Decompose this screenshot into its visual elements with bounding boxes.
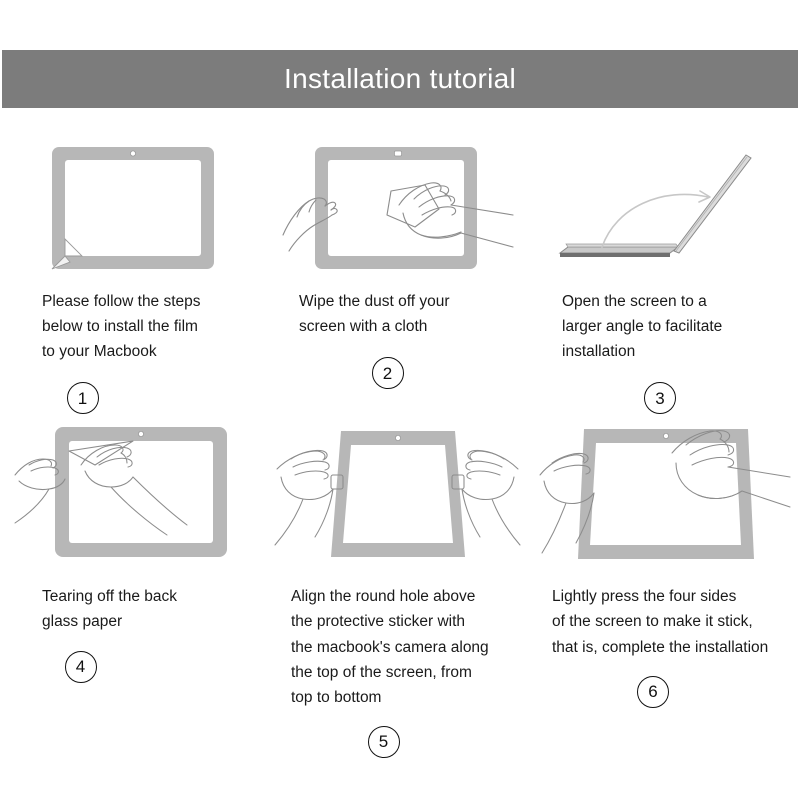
two-hands-aligning-film-icon xyxy=(275,419,520,569)
step-3-caption: Open the screen to a larger angle to fac… xyxy=(538,289,792,364)
installation-tutorial-page: Installation tutorial Please follow the … xyxy=(0,0,800,800)
step-number-badge-6: 6 xyxy=(637,676,669,708)
steps-grid: Please follow the steps below to install… xyxy=(0,140,800,758)
step-card-1: Please follow the steps below to install… xyxy=(0,140,265,414)
laptop-side-profile-open-lid-icon xyxy=(550,143,780,273)
step-2-badge-wrap: 2 xyxy=(273,357,522,389)
step-4-badge-wrap: 4 xyxy=(8,651,257,683)
step-1-caption: Please follow the steps below to install… xyxy=(8,289,257,364)
step-2-caption: Wipe the dust off your screen with a clo… xyxy=(273,289,522,339)
step-6-illustration xyxy=(538,414,792,574)
step-1-illustration xyxy=(8,140,257,275)
step-5-badge-wrap: 5 xyxy=(273,726,522,758)
step-5-caption: Align the round hole above the protectiv… xyxy=(273,584,522,710)
step-6-badge-wrap: 6 xyxy=(538,676,792,708)
step-1-badge-wrap: 1 xyxy=(8,382,257,414)
step-5-illustration xyxy=(273,414,522,574)
step-number-badge-2: 2 xyxy=(372,357,404,389)
hand-pressing-film-icon xyxy=(540,419,790,569)
step-3-illustration xyxy=(538,140,792,275)
hand-tearing-back-paper-icon xyxy=(15,419,250,569)
step-number-badge-5: 5 xyxy=(368,726,400,758)
page-title: Installation tutorial xyxy=(284,65,516,93)
step-3-badge-wrap: 3 xyxy=(538,382,792,414)
step-card-4: Tearing off the back glass paper 4 xyxy=(0,414,265,758)
header-bar: Installation tutorial xyxy=(2,50,798,108)
step-card-6: Lightly press the four sides of the scre… xyxy=(530,414,800,758)
step-6-caption: Lightly press the four sides of the scre… xyxy=(538,584,792,659)
step-card-3: Open the screen to a larger angle to fac… xyxy=(530,140,800,414)
step-4-caption: Tearing off the back glass paper xyxy=(8,584,257,634)
step-number-badge-4: 4 xyxy=(65,651,97,683)
step-number-badge-1: 1 xyxy=(67,382,99,414)
step-card-5: Align the round hole above the protectiv… xyxy=(265,414,530,758)
laptop-screen-with-peeling-film-icon xyxy=(48,143,218,273)
step-number-badge-3: 3 xyxy=(644,382,676,414)
step-2-illustration xyxy=(273,140,522,275)
step-4-illustration xyxy=(8,414,257,574)
step-card-2: Wipe the dust off your screen with a clo… xyxy=(265,140,530,414)
hand-wiping-screen-with-cloth-icon xyxy=(283,143,513,273)
